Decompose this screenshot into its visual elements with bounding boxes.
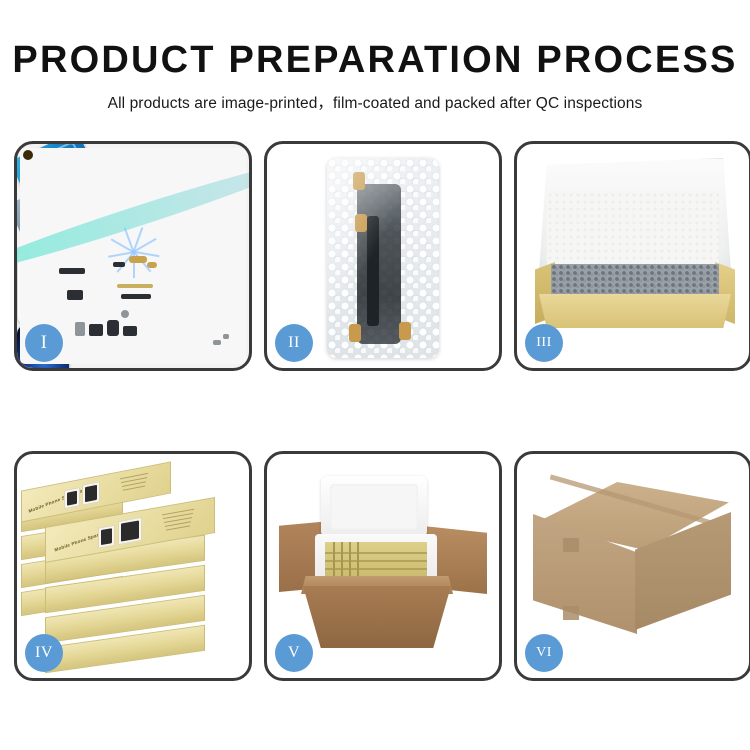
step-badge-2: II <box>275 324 313 362</box>
step-badge-4: IV <box>25 634 63 672</box>
product-swatch <box>82 481 100 505</box>
carton-tab-graphic <box>563 538 579 552</box>
small-part-graphic <box>123 326 137 336</box>
process-step-5: V <box>264 451 502 681</box>
gold-connector-graphic <box>129 256 147 263</box>
small-part-graphic <box>75 322 85 336</box>
kraft-box-front-graphic <box>539 294 731 328</box>
screw-graphic <box>213 340 221 345</box>
page-subtitle: All products are image-printed，film-coat… <box>0 91 750 113</box>
gold-connector-graphic <box>147 262 157 268</box>
small-part-graphic <box>59 268 85 274</box>
page-title: PRODUCT PREPARATION PROCESS <box>0 41 750 79</box>
small-part-graphic <box>89 324 103 336</box>
bubble-wrap-graphic <box>327 158 439 358</box>
product-swatch <box>64 487 80 509</box>
carton-body-graphic <box>303 586 451 648</box>
step-badge-1: I <box>25 324 63 362</box>
step-badge-6: VI <box>525 634 563 672</box>
product-swatch <box>98 525 115 549</box>
process-step-2: II <box>264 141 502 371</box>
small-part-graphic <box>113 262 125 267</box>
process-step-6: VI <box>514 451 750 681</box>
styrofoam-lid-graphic <box>321 476 427 538</box>
white-foam-sheet-graphic <box>547 192 719 266</box>
process-step-4: Mobile Phone Spare Parts Mobile Phone Sp… <box>14 451 252 681</box>
process-step-1: I <box>14 141 252 371</box>
small-part-graphic <box>107 320 119 336</box>
plastic-sheen-overlay <box>327 158 439 358</box>
screw-graphic <box>223 334 229 339</box>
step-badge-5: V <box>275 634 313 672</box>
box-label-text: Mobile Phone Spare Parts <box>28 486 89 514</box>
grey-foam-padding-graphic <box>551 264 719 298</box>
step-badge-3: III <box>525 324 563 362</box>
small-part-graphic <box>67 290 83 300</box>
product-swatch <box>118 517 142 545</box>
flex-cable-graphic <box>117 284 153 288</box>
flex-cable-graphic <box>121 294 151 299</box>
carton-tab-graphic <box>563 606 579 620</box>
header: PRODUCT PREPARATION PROCESS All products… <box>0 0 750 113</box>
small-part-graphic <box>121 310 129 318</box>
process-step-grid: I II <box>14 141 736 691</box>
product-preparation-infographic: PRODUCT PREPARATION PROCESS All products… <box>0 0 750 750</box>
process-step-3: III <box>514 141 750 371</box>
